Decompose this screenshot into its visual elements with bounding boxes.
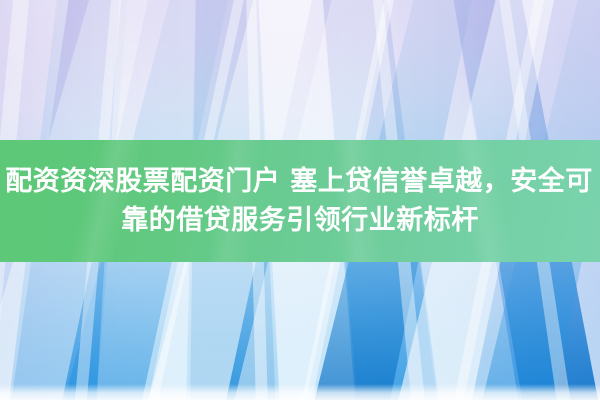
banner: 配资资深股票配资门户 塞上贷信誉卓越，安全可 靠的借贷服务引领行业新标杆	[0, 0, 600, 400]
title-line-2: 靠的借贷服务引领行业新标杆	[121, 201, 479, 240]
title-line-1: 配资资深股票配资门户 塞上贷信誉卓越，安全可	[5, 162, 592, 201]
bottom-haze-strip	[0, 384, 600, 400]
title-band: 配资资深股票配资门户 塞上贷信誉卓越，安全可 靠的借贷服务引领行业新标杆	[0, 140, 600, 262]
